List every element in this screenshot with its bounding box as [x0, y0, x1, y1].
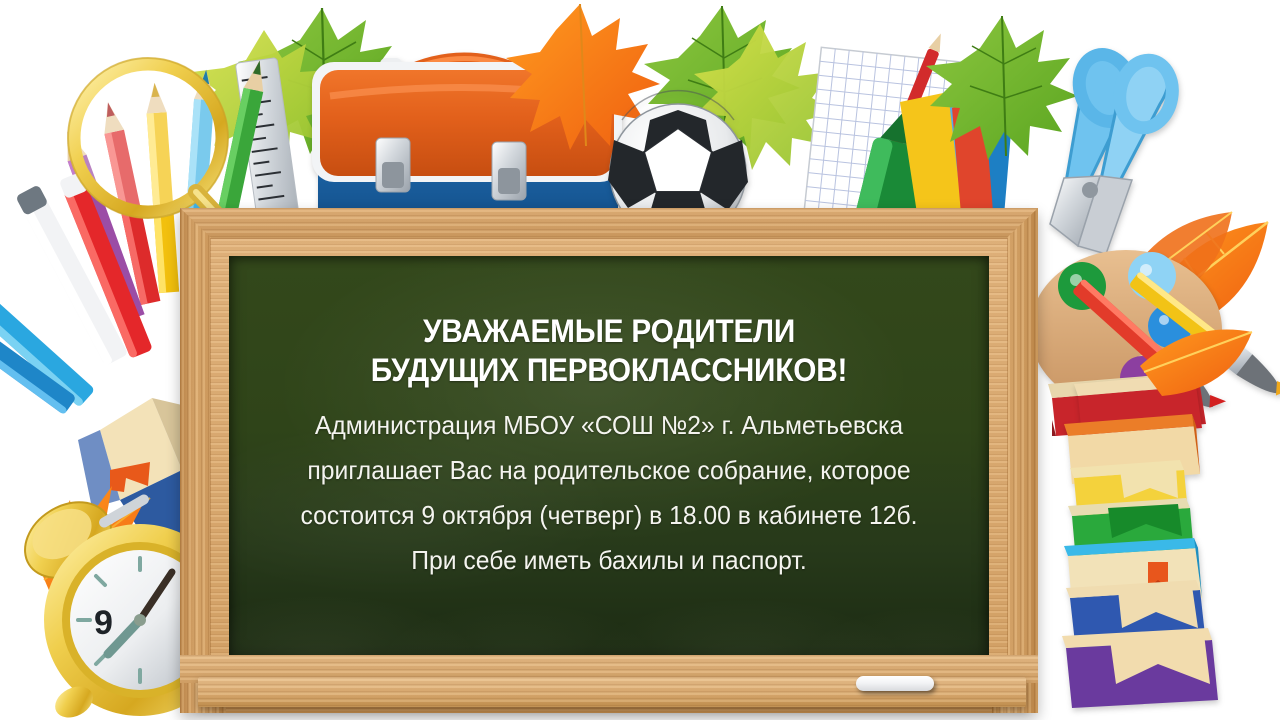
announcement-text: УВАЖАЕМЫЕ РОДИТЕЛИ БУДУЩИХ ПЕРВОКЛАССНИК… — [229, 256, 989, 664]
poster-canvas: 12 9 6 — [0, 0, 1280, 720]
body-line-3: состоится 9 октября (четверг) в 18.00 в … — [248, 500, 970, 531]
book-stack-icon — [1062, 374, 1218, 708]
body-line-1: Администрация МБОУ «СОШ №2» г. Альметьев… — [248, 410, 970, 441]
scissors-icon — [1050, 48, 1178, 254]
body-line-2: приглашает Вас на родительское собрание,… — [248, 455, 970, 486]
chalkboard: УВАЖАЕМЫЕ РОДИТЕЛИ БУДУЩИХ ПЕРВОКЛАССНИК… — [180, 208, 1038, 713]
headline-line-2: БУДУЩИХ ПЕРВОКЛАССНИКОВ! — [256, 352, 963, 389]
headline-line-1: УВАЖАЕМЫЕ РОДИТЕЛИ — [256, 313, 963, 350]
chalk-stick — [856, 676, 934, 691]
body-line-4: При себе иметь бахилы и паспорт. — [248, 545, 970, 576]
clock-hour-9: 9 — [94, 604, 113, 642]
